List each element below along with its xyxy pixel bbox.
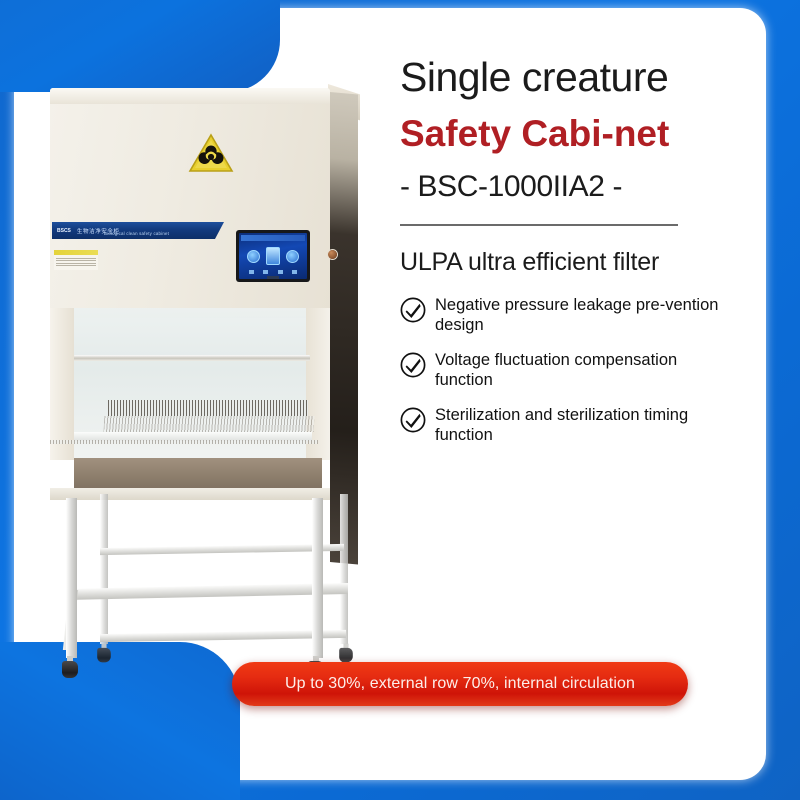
feature-item: Voltage fluctuation compensation functio… (400, 350, 730, 390)
stand-leg-back-left (100, 494, 108, 644)
feature-item: Sterilization and sterilization timing f… (400, 405, 730, 445)
lcd-screen[interactable] (239, 233, 307, 279)
feature-list: Negative pressure leakage pre-vention de… (400, 295, 730, 446)
sash-handle-rail (74, 355, 310, 361)
brand-code: BSCS (57, 228, 71, 234)
air-intake-grille (108, 400, 308, 416)
filter-tagline: ULPA ultra efficient filter (400, 248, 730, 277)
blue-accent-bottom-left (0, 642, 240, 800)
caster-back-right (339, 644, 353, 663)
feature-text: Sterilization and sterilization timing f… (435, 405, 725, 445)
control-panel[interactable] (236, 230, 310, 282)
promo-banner: Up to 30%, external row 70%, internal ci… (232, 662, 688, 706)
lcd-button-row (249, 270, 297, 274)
product-photo: BSCS 生物洁净安全柜 Biological clean safety cab… (40, 70, 380, 640)
lcd-light-icon (286, 250, 299, 263)
product-marketing-image: BSCS 生物洁净安全柜 Biological clean safety cab… (0, 0, 800, 800)
lcd-center-icon (266, 247, 280, 265)
brand-label-strip: BSCS 生物洁净安全柜 Biological clean safety cab… (52, 222, 224, 239)
check-circle-icon (400, 407, 426, 433)
air-intake-grille-secondary (104, 416, 315, 432)
stand-leg-front-left (66, 498, 77, 658)
feature-text: Voltage fluctuation compensation functio… (435, 350, 725, 390)
feature-item: Negative pressure leakage pre-vention de… (400, 295, 730, 335)
headline: Single creature (400, 56, 730, 99)
promo-banner-text: Up to 30%, external row 70%, internal ci… (285, 675, 635, 693)
work-chamber (50, 308, 330, 460)
check-circle-icon (400, 352, 426, 378)
cabinet-upper-body (50, 88, 330, 318)
stand-rail-middle (66, 583, 348, 600)
lcd-fan-icon (247, 250, 260, 263)
front-air-slot (50, 440, 318, 444)
feature-text: Negative pressure leakage pre-vention de… (435, 295, 725, 335)
stand-rail-top (100, 544, 344, 555)
divider-rule (400, 224, 678, 226)
marketing-copy: Single creature Safety Cabi-net - BSC-10… (400, 56, 730, 460)
stand-leg-back-right (340, 494, 348, 644)
model-number: - BSC-1000IIA2 - (400, 170, 730, 204)
subheadline: Safety Cabi-net (400, 113, 730, 155)
apron-cap-edge (50, 488, 330, 500)
front-apron-panel (74, 458, 322, 490)
sticker-text-lines (54, 255, 98, 267)
power-indicator-light (328, 250, 337, 259)
biohazard-icon (188, 132, 234, 174)
lcd-bottom-badge (267, 276, 279, 279)
check-circle-icon (400, 297, 426, 323)
cabinet-top-cap (50, 88, 330, 104)
caution-sticker (54, 250, 98, 270)
lcd-status-bar (241, 235, 305, 241)
caster-front-left (62, 656, 78, 678)
brand-english-text: Biological clean safety cabinet (104, 231, 169, 236)
chamber-left-post (50, 308, 74, 460)
stand-leg-front-right (312, 498, 323, 658)
caster-back-left (97, 644, 111, 663)
